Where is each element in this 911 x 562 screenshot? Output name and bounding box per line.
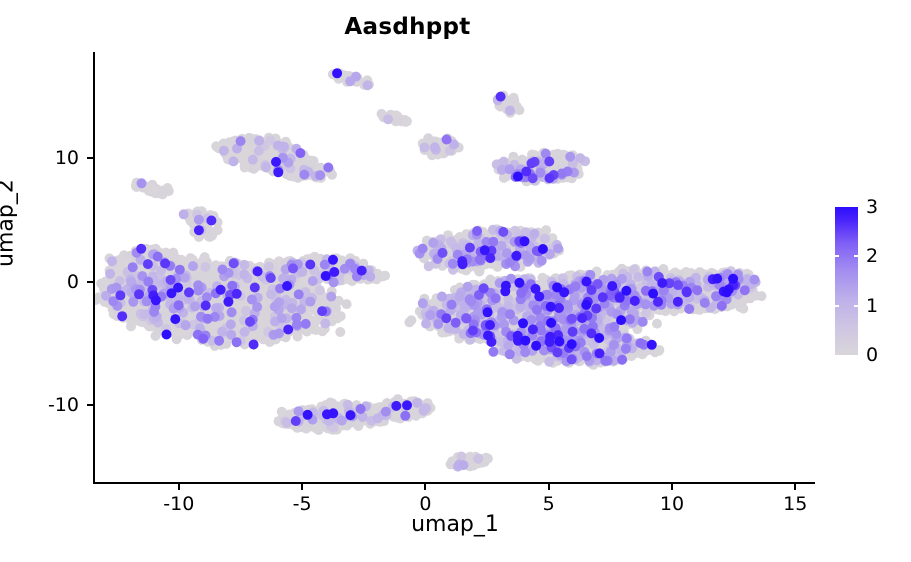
scatter-point bbox=[178, 256, 188, 266]
page-title: Aasdhppt bbox=[0, 14, 815, 40]
scatter-point bbox=[393, 116, 403, 126]
scatter-point bbox=[147, 183, 157, 193]
scatter-point bbox=[652, 319, 662, 329]
scatter-points-layer bbox=[95, 52, 815, 482]
scatter-point bbox=[514, 105, 524, 115]
scatter-point bbox=[404, 317, 414, 327]
scatter-point bbox=[538, 278, 548, 288]
scatter-point bbox=[554, 153, 564, 163]
axis-spine-bottom bbox=[93, 482, 815, 484]
scatter-point bbox=[474, 267, 484, 277]
scatter-point bbox=[335, 327, 345, 337]
scatter-point bbox=[380, 271, 390, 281]
plot-axes: -10-5051015 100-10 bbox=[95, 52, 815, 482]
scatter-point bbox=[240, 163, 250, 173]
scatter-point bbox=[342, 299, 352, 309]
scatter-point bbox=[158, 186, 168, 196]
umap-feature-plot: Aasdhppt -10-5051015 100-10 umap_1 umap_… bbox=[0, 0, 911, 562]
scatter-point bbox=[333, 313, 343, 323]
scatter-point bbox=[293, 332, 303, 342]
